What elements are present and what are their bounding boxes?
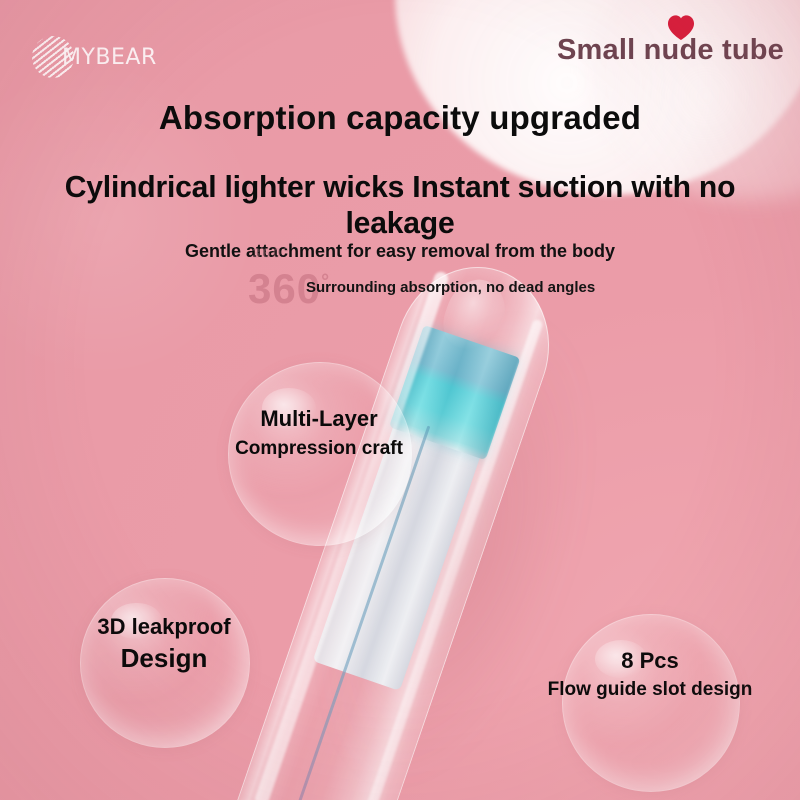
feature-title: 8 Pcs [545,648,755,675]
feature-label-flow-guide: 8 Pcs Flow guide slot design [545,648,755,701]
headline-primary: Absorption capacity upgraded [0,99,800,137]
subline-surrounding-absorption: Surrounding absorption, no dead angles [306,279,595,296]
feature-title: Multi-Layer [228,406,410,433]
brand-logo: MYBEAR [32,36,157,78]
brand-logo-text: MYBEAR [62,45,157,70]
feature-subtitle: Design [62,643,266,675]
feature-subtitle: Flow guide slot design [545,678,755,701]
watermark-360-ghost: 360° [252,245,291,262]
tagline-block: Small nude tube [557,34,784,67]
subline-gentle-attachment: Gentle attachment for easy removal from … [0,241,800,262]
headline-secondary: Cylindrical lighter wicks Instant suctio… [12,169,788,241]
feature-subtitle: Compression craft [228,437,410,460]
feature-label-leakproof: 3D leakproof Design [62,614,266,675]
heart-icon [666,14,696,41]
promo-poster: MYBEAR Small nude tube Absorption capaci… [0,0,800,800]
feature-title: 3D leakproof [62,614,266,641]
feature-label-multi-layer: Multi-Layer Compression craft [228,406,410,460]
feature-bubble-flow-guide [562,614,740,792]
